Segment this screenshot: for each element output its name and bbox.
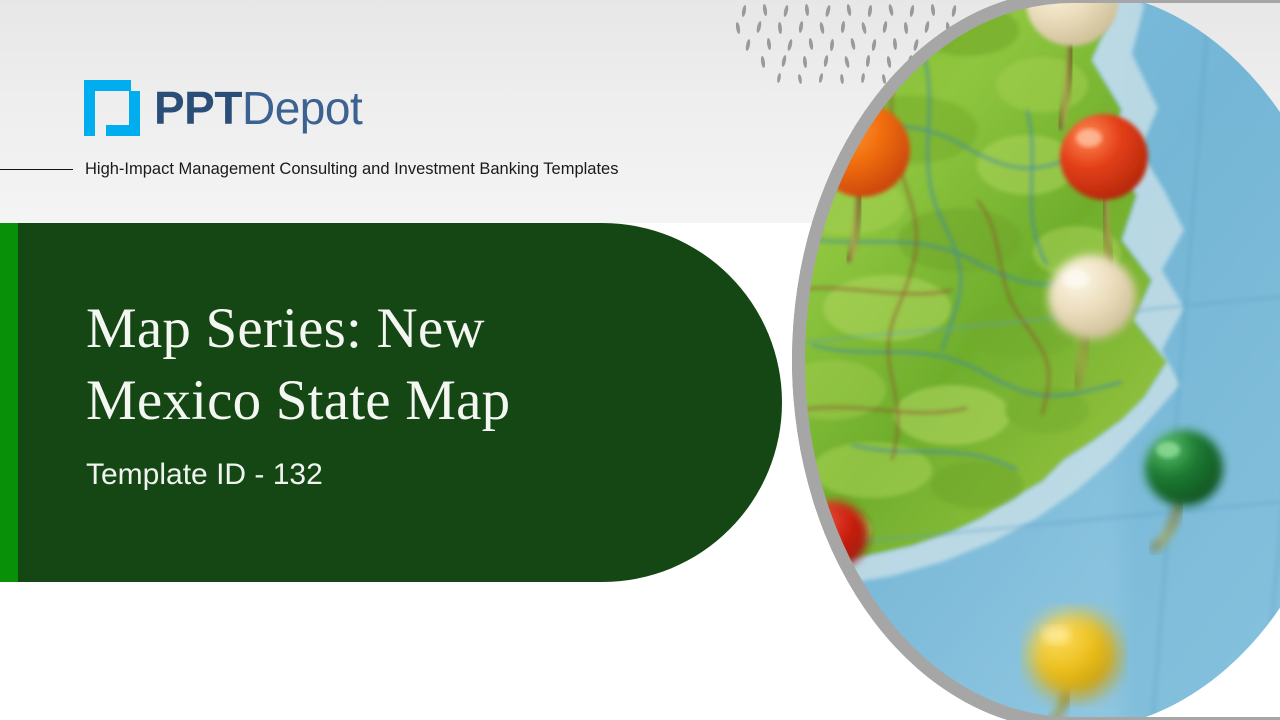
brand-logo[interactable]: PPTDepot xyxy=(84,80,362,136)
tagline-rule xyxy=(0,169,73,170)
slide-canvas: PPTDepot High-Impact Management Consulti… xyxy=(0,0,1280,720)
brand-tagline-row: High-Impact Management Consulting and In… xyxy=(0,160,760,179)
page-title: Map Series: New Mexico State Map xyxy=(86,293,666,438)
brand-tagline: High-Impact Management Consulting and In… xyxy=(85,160,619,179)
brand-name-light: Depot xyxy=(242,85,362,131)
title-panel: Map Series: New Mexico State Map Templat… xyxy=(18,223,782,582)
template-id-label: Template ID - 132 xyxy=(86,458,666,492)
accent-bar xyxy=(0,223,18,582)
title-block: Map Series: New Mexico State Map Templat… xyxy=(86,293,666,492)
brand-wordmark: PPTDepot xyxy=(154,85,362,131)
pin-red-edge xyxy=(796,501,868,569)
ppt-depot-logo-mark-icon xyxy=(84,80,140,136)
brand-name-bold: PPT xyxy=(154,85,242,131)
